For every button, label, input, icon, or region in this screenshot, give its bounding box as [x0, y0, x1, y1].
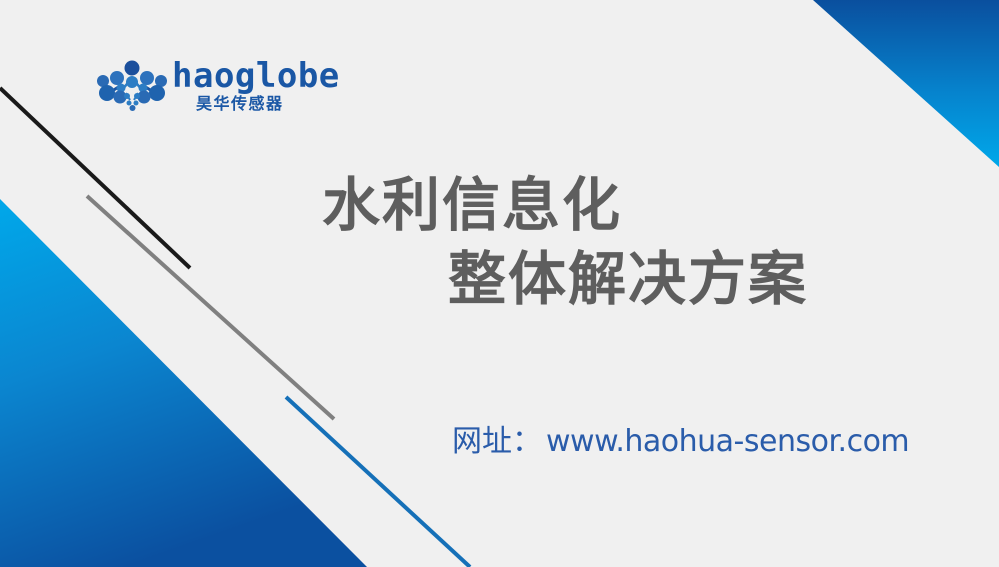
brand-logo: haoglobe 昊华传感器 — [96, 58, 311, 120]
slide-canvas: haoglobe 昊华传感器 水利信息化 整体解决方案 网址：www.haohu… — [0, 0, 999, 567]
molecular-network-dots-icon — [96, 60, 168, 112]
page-title: 水利信息化 整体解决方案 — [0, 168, 999, 316]
website-label: 网址： — [452, 424, 542, 459]
title-line-2: 整体解决方案 — [0, 242, 999, 316]
top-right-gradient-triangle — [813, 0, 999, 167]
website-url[interactable]: www.haohua-sensor.com — [546, 424, 909, 459]
logo-subtitle: 昊华传感器 — [196, 94, 284, 114]
logo-wordmark: haoglobe — [172, 58, 340, 94]
website-line: 网址：www.haohua-sensor.com — [452, 420, 909, 469]
title-line-1: 水利信息化 — [0, 168, 999, 242]
